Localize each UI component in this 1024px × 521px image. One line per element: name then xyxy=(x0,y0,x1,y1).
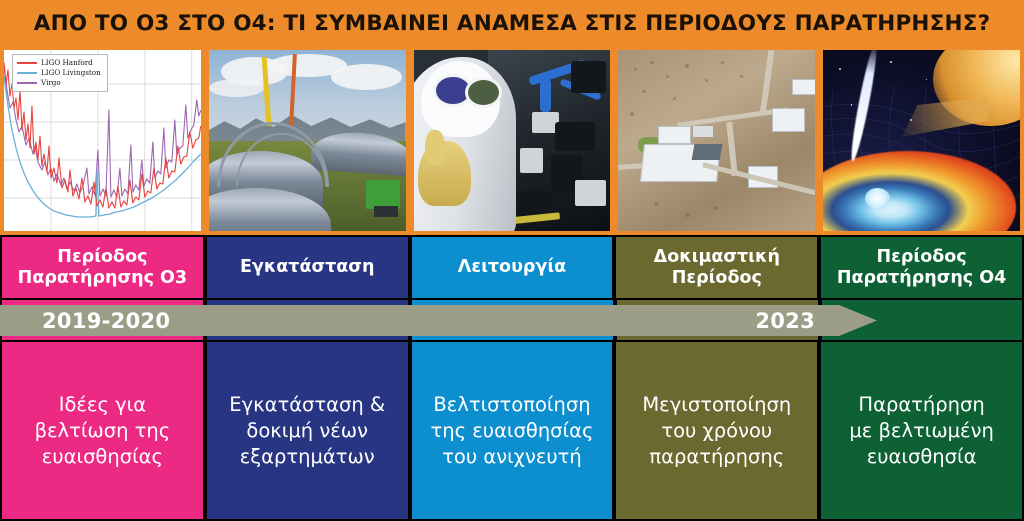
black-hole-artist-rendering xyxy=(823,50,1020,231)
phase-label-commissioning: Λειτουργία xyxy=(410,235,615,300)
optics-mount xyxy=(575,180,606,205)
photo-cell-o3: LIGO Hanford LIGO Livingston Virgo xyxy=(0,46,205,235)
phase-label-o4-line1: Περίοδος xyxy=(876,247,966,267)
photo-cell-commissioning xyxy=(410,46,615,235)
cleanroom-scientist-photo xyxy=(414,50,611,231)
poster-title-bar: ΑΠΟ ΤΟ Ο3 ΣΤΟ Ο4: ΤΙ ΣΥΜΒΑΙΝΕΙ ΑΝΑΜΕΣΑ Σ… xyxy=(0,0,1024,46)
detector-arm-construction-photo xyxy=(209,50,406,231)
legend-item-ligo-livingston: LIGO Livingston xyxy=(17,68,101,78)
desc-o3-line2: βελτίωση της xyxy=(35,418,171,444)
phase-label-o3-line1: Περίοδος xyxy=(57,247,147,267)
cloud xyxy=(209,79,264,97)
legend-label-ligo-livingston: LIGO Livingston xyxy=(41,68,101,78)
building-roof-shadow xyxy=(692,144,722,160)
timeline-start-year: 2019-2020 xyxy=(42,309,170,333)
desc-commissioning-line2: της ευαισθησίας xyxy=(431,418,594,444)
noise-curve-chart: LIGO Hanford LIGO Livingston Virgo xyxy=(4,50,201,231)
phase-label-row: Περίοδος Παρατήρησης Ο3 Εγκατάσταση Λειτ… xyxy=(0,235,1024,300)
photo-strip: LIGO Hanford LIGO Livingston Virgo xyxy=(0,46,1024,235)
desc-installation-line1: Εγκατάσταση & xyxy=(229,392,385,418)
timeline-end-year: 2023 xyxy=(755,309,815,333)
phase-label-engineering-run-line2: Περίοδος xyxy=(672,268,762,288)
desc-installation-line3: εξαρτημάτων xyxy=(229,444,385,470)
phase-label-o4-line2: Παρατήρησης Ο4 xyxy=(837,268,1006,288)
desc-o4-line3: ευαισθησία xyxy=(849,444,994,470)
phase-label-engineering-run-line1: Δοκιμαστική xyxy=(654,247,780,267)
phase-label-installation-line1: Εγκατάσταση xyxy=(240,257,374,277)
photo-cell-installation xyxy=(205,46,410,235)
compact-object-core xyxy=(865,188,891,210)
desc-o3-line3: ευαισθησίας xyxy=(35,444,171,470)
outbuilding xyxy=(658,126,691,144)
optics-housing xyxy=(555,122,594,151)
legend-swatch-ligo-hanford xyxy=(17,62,37,64)
legend-swatch-ligo-livingston xyxy=(17,72,37,74)
aerial-observatory-site-photo xyxy=(618,50,815,231)
desc-o4-line1: Παρατήρηση xyxy=(849,392,994,418)
desc-o4-line2: με βελτιωμένη xyxy=(849,418,994,444)
legend-label-ligo-hanford: LIGO Hanford xyxy=(41,58,93,68)
phase-description-installation: Εγκατάσταση & δοκιμή νέων εξαρτημάτων xyxy=(205,340,410,521)
phase-label-installation: Εγκατάσταση xyxy=(205,235,410,300)
page-title: ΑΠΟ ΤΟ Ο3 ΣΤΟ Ο4: ΤΙ ΣΥΜΒΑΙΝΕΙ ΑΝΑΜΕΣΑ Σ… xyxy=(34,11,991,36)
desc-engineering-run-line1: Μεγιστοποίηση xyxy=(642,392,791,418)
desc-commissioning-line1: Βελτιστοποίηση xyxy=(431,392,594,418)
photo-cell-engineering-run xyxy=(614,46,819,235)
phase-description-commissioning: Βελτιστοποίηση της ευαισθησίας του ανιχν… xyxy=(410,340,615,521)
thumb-up-gesture xyxy=(425,130,445,166)
optics-mount xyxy=(520,148,544,173)
desc-engineering-run-line2: του χρόνου xyxy=(642,418,791,444)
support-building xyxy=(792,79,816,95)
optics-housing xyxy=(571,61,606,94)
desc-o3-line1: Ιδέες για xyxy=(35,392,171,418)
vehicle-tracks xyxy=(374,206,398,217)
chart-legend: LIGO Hanford LIGO Livingston Virgo xyxy=(12,54,108,92)
phase-description-row: Ιδέες για βελτίωση της ευαισθησίας Εγκατ… xyxy=(0,340,1024,521)
timeline-arrow-band: 2019-2020 2023 xyxy=(0,300,1024,340)
cloud xyxy=(331,64,402,89)
phase-description-engineering-run: Μεγιστοποίηση του χρόνου παρατήρησης xyxy=(614,340,819,521)
legend-label-virgo: Virgo xyxy=(41,78,61,88)
phase-label-o3-line2: Παρατήρησης Ο3 xyxy=(18,268,187,288)
phase-label-o4: Περίοδος Παρατήρησης Ο4 xyxy=(819,235,1024,300)
blue-cable xyxy=(540,79,552,112)
desc-commissioning-line3: του ανιχνευτή xyxy=(431,444,594,470)
photo-cell-o4 xyxy=(819,46,1024,235)
phase-label-engineering-run: Δοκιμαστική Περίοδος xyxy=(614,235,819,300)
phase-description-o4: Παρατήρηση με βελτιωμένη ευαισθησία xyxy=(819,340,1024,521)
phase-label-o3: Περίοδος Παρατήρησης Ο3 xyxy=(0,235,205,300)
legend-item-virgo: Virgo xyxy=(17,78,101,88)
phase-label-commissioning-line1: Λειτουργία xyxy=(458,257,566,277)
legend-item-ligo-hanford: LIGO Hanford xyxy=(17,58,101,68)
outbuilding-roof xyxy=(693,126,713,137)
infographic-poster: ΑΠΟ ΤΟ Ο3 ΣΤΟ Ο4: ΤΙ ΣΥΜΒΑΙΝΕΙ ΑΝΑΜΕΣΑ Σ… xyxy=(0,0,1024,521)
timeline-arrow: 2019-2020 2023 xyxy=(0,305,877,336)
desc-installation-line2: δοκιμή νέων xyxy=(229,418,385,444)
desc-engineering-run-line3: παρατήρησης xyxy=(642,444,791,470)
legend-swatch-virgo xyxy=(17,82,37,84)
phase-description-o3: Ιδέες για βελτίωση της ευαισθησίας xyxy=(0,340,205,521)
end-station-building xyxy=(772,108,805,132)
